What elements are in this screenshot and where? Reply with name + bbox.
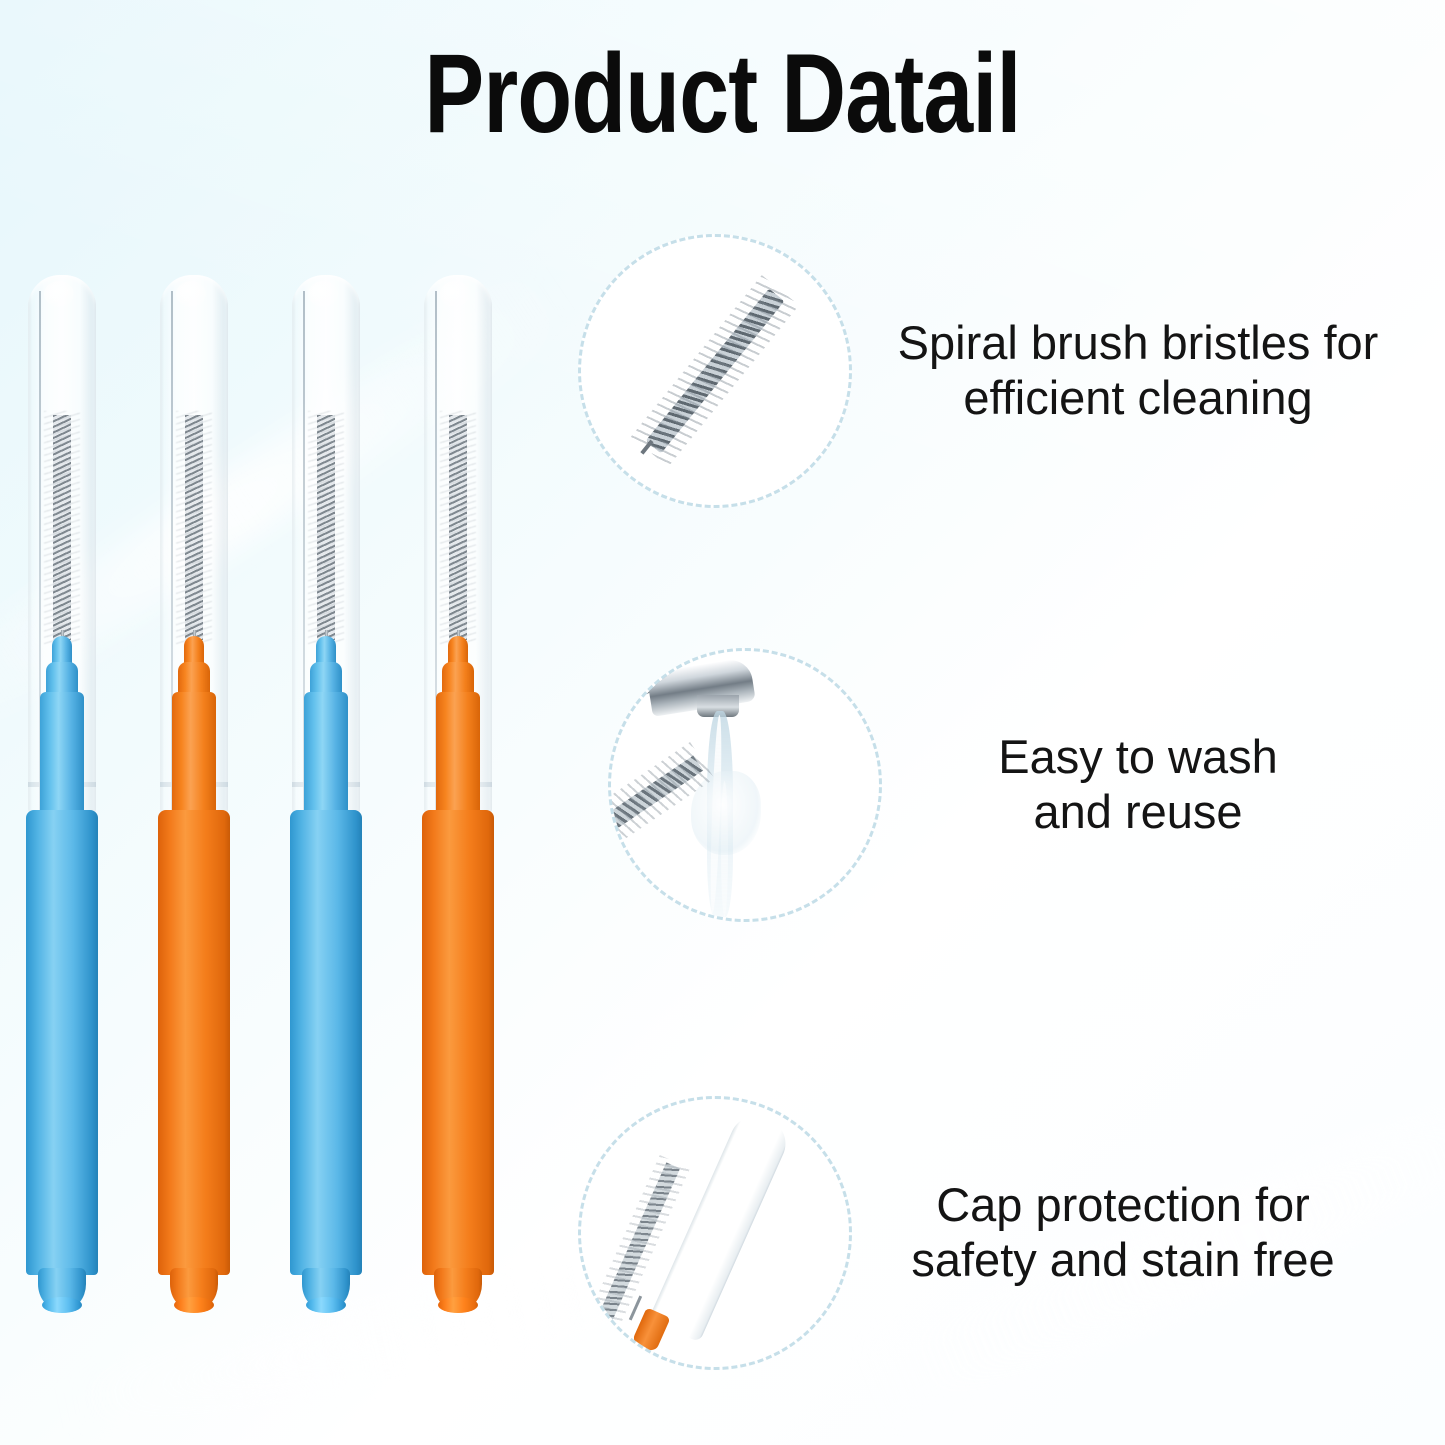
brush-tip-neck: [310, 662, 342, 696]
brush-handle-foot: [434, 1268, 482, 1310]
feature-caption: Easy to wash and reuse: [882, 730, 1394, 840]
spiral-brush-icon: [578, 234, 852, 508]
product-brush-3: [260, 0, 392, 1445]
capped-brush-art: [581, 1099, 849, 1367]
brush-handle: [290, 810, 362, 1275]
cap-highlight: [440, 281, 470, 307]
brush-tip-barrel: [172, 692, 216, 814]
feature-spiral-bristles: Spiral brush bristles for efficient clea…: [578, 234, 1428, 508]
product-image-group: [0, 0, 560, 1445]
protective-cap: [648, 1108, 794, 1343]
brush-under-water: [608, 756, 703, 873]
product-brush-1: [0, 0, 128, 1445]
brush-bristles: [449, 415, 467, 640]
capped-brush-icon: [578, 1096, 852, 1370]
feature-easy-wash: Easy to wash and reuse: [608, 648, 1398, 922]
brush-tip-neck: [46, 662, 78, 696]
brush-handle-foot: [170, 1268, 218, 1310]
brush-tip-barrel: [304, 692, 348, 814]
brush-tip-barrel: [40, 692, 84, 814]
brush-handle: [26, 810, 98, 1275]
brush-bristles: [185, 415, 203, 640]
brush-tip-barrel: [436, 692, 480, 814]
faucet-water-art: [611, 651, 879, 919]
brush-handle: [422, 810, 494, 1275]
brush-bristles: [317, 415, 335, 640]
brush-tip: [304, 636, 348, 812]
brush-tip: [436, 636, 480, 812]
brush-handle: [158, 810, 230, 1275]
faucet-water-brush-icon: [608, 648, 882, 922]
product-brush-4: [392, 0, 524, 1445]
feature-cap-protection: Cap protection for safety and stain free: [578, 1096, 1398, 1370]
product-detail-infographic: Product Datail: [0, 0, 1445, 1445]
brush-tip: [172, 636, 216, 812]
spiral-brush-art: [646, 289, 785, 454]
cap-highlight: [176, 281, 206, 307]
feature-caption: Spiral brush bristles for efficient clea…: [852, 316, 1424, 426]
brush-tip-neck: [442, 662, 474, 696]
brush-handle-foot: [302, 1268, 350, 1310]
brush-bristles: [53, 415, 71, 640]
product-brush-2: [128, 0, 260, 1445]
cap-highlight: [308, 281, 338, 307]
brush-tip-neck: [178, 662, 210, 696]
brush-handle-foot: [38, 1268, 86, 1310]
cap-highlight: [44, 281, 74, 307]
brush-tip: [40, 636, 84, 812]
feature-caption: Cap protection for safety and stain free: [852, 1178, 1394, 1288]
